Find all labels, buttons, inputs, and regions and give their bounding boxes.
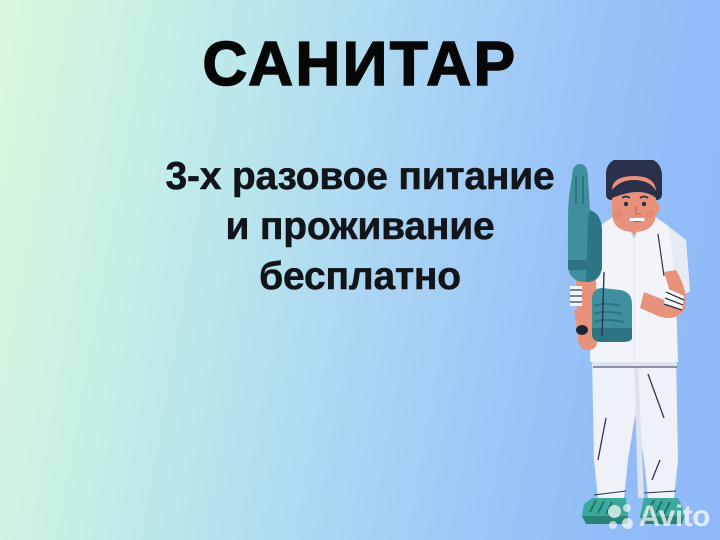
teeth	[629, 218, 645, 221]
glove-left-cuff	[568, 260, 602, 270]
cheek-blush-left	[614, 210, 622, 218]
eye-right	[642, 202, 646, 206]
wrist-shadow	[576, 325, 588, 335]
cheek-blush-right	[646, 210, 654, 218]
glove-right-cuff	[592, 328, 632, 342]
poster-canvas: САНИТАР 3-х разовое питание и проживание…	[0, 0, 720, 540]
shoe-right-sole	[640, 516, 684, 524]
eye-left	[624, 202, 628, 206]
glove-left-shade	[586, 210, 602, 282]
page-title: САНИТАР	[0, 34, 720, 96]
medical-worker-illustration	[548, 160, 720, 540]
shoe-left-sole	[582, 516, 628, 524]
